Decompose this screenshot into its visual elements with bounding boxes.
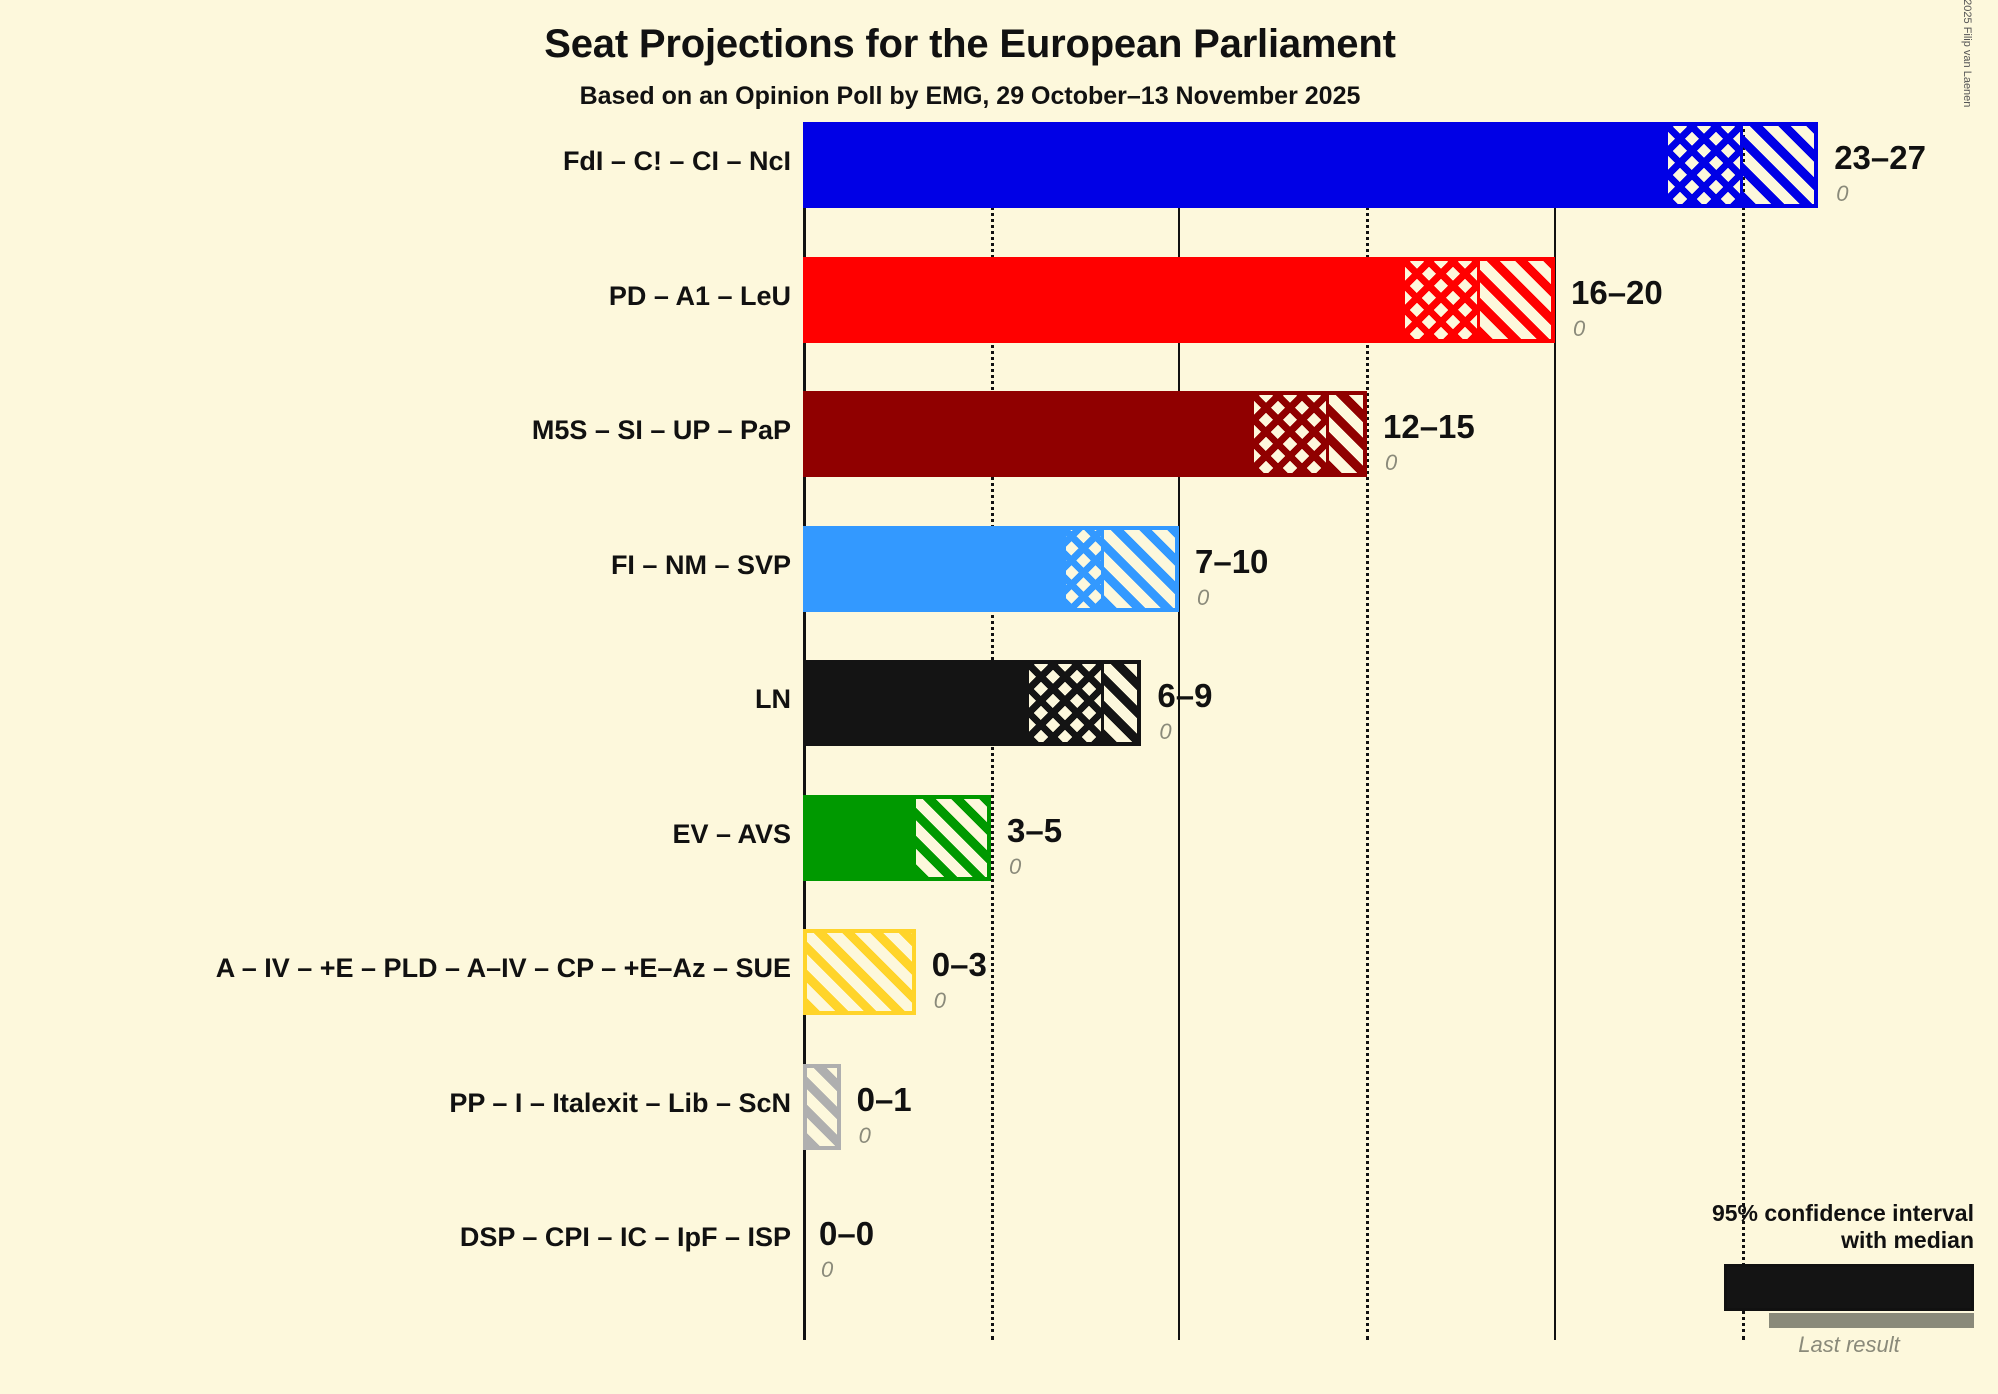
legend-diagonal-segment xyxy=(1919,1267,1971,1308)
bar-last-result-value: 0 xyxy=(1009,854,1021,880)
plot-area: FdI – C! – CI – NcI23–270PD – A1 – LeU16… xyxy=(0,0,1998,1394)
bar-row: PD – A1 – LeU16–200 xyxy=(0,257,1998,343)
bar-diagonal-segment xyxy=(1329,395,1363,473)
confidence-interval-bar xyxy=(803,660,1141,746)
category-label: M5S – SI – UP – PaP xyxy=(532,415,791,446)
bar-diagonal-segment xyxy=(1104,664,1138,742)
bar-value-range: 16–20 xyxy=(1571,274,1663,312)
bar-value-range: 6–9 xyxy=(1157,677,1212,715)
bar-row: FI – NM – SVP7–100 xyxy=(0,526,1998,612)
legend: 95% confidence interval with median Last… xyxy=(1554,1200,1974,1358)
bar-solid-segment xyxy=(807,261,1405,339)
bar-value-range: 0–3 xyxy=(932,946,987,984)
category-label: PD – A1 – LeU xyxy=(609,281,791,312)
bar-crosshatch-segment xyxy=(1254,395,1329,473)
bar-diagonal-segment xyxy=(807,933,912,1011)
bar-last-result-value: 0 xyxy=(859,1123,871,1149)
bar-last-result-value: 0 xyxy=(1836,181,1848,207)
bar-row: LN6–90 xyxy=(0,660,1998,746)
bar-row: PP – I – Italexit – Lib – ScN0–10 xyxy=(0,1064,1998,1150)
bar-crosshatch-segment xyxy=(1066,530,1104,608)
legend-title-line2: with median xyxy=(1554,1227,1974,1254)
bar-crosshatch-segment xyxy=(1029,664,1104,742)
bar-value-range: 0–0 xyxy=(819,1215,874,1253)
legend-last-result-bar xyxy=(1769,1313,1974,1328)
legend-interval-bar xyxy=(1724,1264,1974,1311)
bar-row: FdI – C! – CI – NcI23–270 xyxy=(0,122,1998,208)
bar-solid-segment xyxy=(807,530,1066,608)
confidence-interval-bar xyxy=(803,257,1555,343)
bar-last-result-value: 0 xyxy=(1197,585,1209,611)
bar-value-range: 3–5 xyxy=(1007,812,1062,850)
category-label: PP – I – Italexit – Lib – ScN xyxy=(449,1088,791,1119)
legend-title-line1: 95% confidence interval xyxy=(1554,1200,1974,1227)
category-label: FI – NM – SVP xyxy=(611,550,791,581)
category-label: LN xyxy=(755,684,791,715)
confidence-interval-bar xyxy=(803,122,1818,208)
bar-solid-segment xyxy=(807,126,1668,204)
confidence-interval-bar xyxy=(803,929,916,1015)
category-label: EV – AVS xyxy=(672,819,791,850)
bar-last-result-value: 0 xyxy=(821,1257,833,1283)
legend-crosshatch-segment xyxy=(1827,1267,1919,1308)
confidence-interval-bar xyxy=(803,526,1179,612)
bar-row: EV – AVS3–50 xyxy=(0,795,1998,881)
bar-last-result-value: 0 xyxy=(1385,450,1397,476)
category-label: FdI – C! – CI – NcI xyxy=(563,146,791,177)
chart-canvas: Seat Projections for the European Parlia… xyxy=(0,0,1998,1394)
bar-crosshatch-segment xyxy=(1668,126,1743,204)
bar-diagonal-segment xyxy=(1104,530,1175,608)
bar-row: M5S – SI – UP – PaP12–150 xyxy=(0,391,1998,477)
bar-diagonal-segment xyxy=(807,1068,837,1146)
category-label: A – IV – +E – PLD – A–IV – CP – +E–Az – … xyxy=(216,953,791,984)
bar-diagonal-segment xyxy=(916,799,987,877)
category-label: DSP – CPI – IC – IpF – ISP xyxy=(460,1222,791,1253)
confidence-interval-bar xyxy=(803,391,1367,477)
bar-row: A – IV – +E – PLD – A–IV – CP – +E–Az – … xyxy=(0,929,1998,1015)
confidence-interval-bar xyxy=(803,795,991,881)
bar-last-result-value: 0 xyxy=(1573,316,1585,342)
bar-solid-segment xyxy=(807,799,916,877)
bar-solid-segment xyxy=(807,395,1254,473)
bar-value-range: 7–10 xyxy=(1195,543,1268,581)
confidence-interval-bar xyxy=(803,1064,841,1150)
bar-diagonal-segment xyxy=(1743,126,1814,204)
bar-value-range: 0–1 xyxy=(857,1081,912,1119)
bar-value-range: 23–27 xyxy=(1834,139,1926,177)
legend-last-result-label: Last result xyxy=(1724,1332,1974,1358)
bar-last-result-value: 0 xyxy=(934,988,946,1014)
bar-value-range: 12–15 xyxy=(1383,408,1475,446)
bar-diagonal-segment xyxy=(1480,261,1551,339)
bar-solid-segment xyxy=(807,664,1029,742)
bar-last-result-value: 0 xyxy=(1159,719,1171,745)
bar-crosshatch-segment xyxy=(1405,261,1480,339)
